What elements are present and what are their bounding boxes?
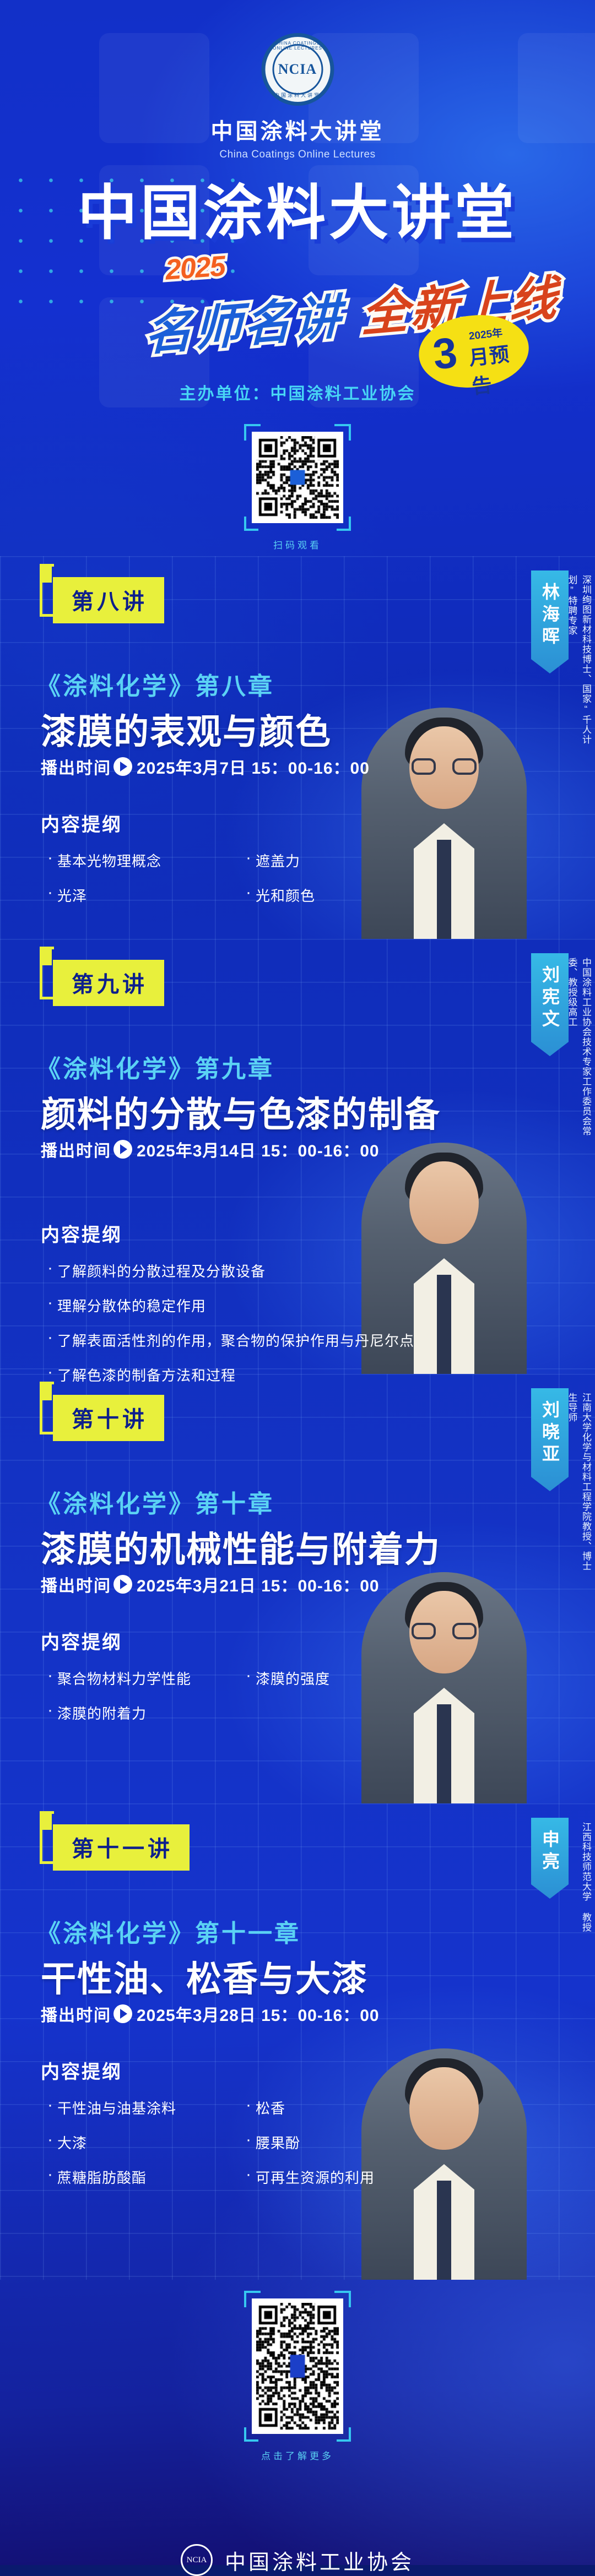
qr-code-watch[interactable] <box>252 432 343 523</box>
lecture-title: 颜料的分散与色漆的制备 <box>41 1086 441 1137</box>
speaker-name-tab: 刘宪文 <box>531 953 569 1056</box>
speaker-title: 深圳绚图新材科技博士、国家“千人计划”特聘专家 <box>567 575 593 757</box>
play-icon[interactable] <box>113 1575 132 1594</box>
outline-item: 了解表面活性剂的作用，聚合物的保护作用与丹尼尔点 <box>46 1330 542 1350</box>
qr-code-more[interactable] <box>252 2298 343 2434</box>
lecture-number-chip: 第十一讲 <box>53 1824 190 1871</box>
lecture-card[interactable]: 第十一讲 申亮 江西科技师范大学 教授 《涂料化学》第十一章 干性油、松香与大漆… <box>0 1803 595 2280</box>
outline-item: 可再生资源的利用 <box>245 2167 443 2187</box>
speaker-title: 江西科技师范大学 教授 <box>567 1822 593 2004</box>
lecture-card[interactable]: 第八讲 林海晖 深圳绚图新材科技博士、国家“千人计划”特聘专家 《涂料化学》第八… <box>0 556 595 939</box>
speaker-name: 刘晓亚 <box>537 1400 562 1466</box>
outline-heading: 内容提纲 <box>41 809 122 836</box>
lecture-chapter: 《涂料化学》第十一章 <box>36 1914 301 1949</box>
speaker-name-tab: 刘晓亚 <box>531 1388 569 1491</box>
outline-item: 腰果酚 <box>245 2132 443 2153</box>
airtime-label: 播出时间 <box>41 1137 111 1161</box>
poster-header: CHINA COATINGS ONLINE LECTURES NCIA 中国涂料… <box>0 0 595 556</box>
lecture-chapter: 《涂料化学》第八章 <box>36 666 274 702</box>
speaker-block: 申亮 江西科技师范大学 教授 <box>364 1803 595 2280</box>
lecture-chapter: 《涂料化学》第九章 <box>36 1049 274 1084</box>
speaker-title: 中国涂料工业协会技术专家工作委员会常委、教授级高工 <box>567 958 593 1139</box>
outline-heading: 内容提纲 <box>41 1220 122 1247</box>
seal-arc-bottom-text: 中国涂料大讲堂 <box>265 91 330 99</box>
outline-list: 干性油与油基涂料松香大漆腰果酚蔗糖脂肪酸酯可再生资源的利用 <box>46 2097 443 2202</box>
outline-item: 大漆 <box>46 2132 245 2153</box>
brand-name-en: China Coatings Online Lectures <box>211 149 385 161</box>
airtime-label: 播出时间 <box>41 754 111 779</box>
outline-item: 漆膜的强度 <box>245 1668 443 1688</box>
airtime-row: 播出时间 2025年3月28日 15：00-16：00 <box>41 2002 380 2026</box>
airtime-row: 播出时间 2025年3月7日 15：00-16：00 <box>41 754 370 779</box>
airtime-label: 播出时间 <box>41 2002 111 2026</box>
outline-item: 遮盖力 <box>245 850 443 871</box>
outline-item: 光泽 <box>46 885 245 905</box>
hero-year: 2025 <box>164 249 226 286</box>
ncia-seal-icon: CHINA COATINGS ONLINE LECTURES NCIA 中国涂料… <box>261 33 334 106</box>
footer-qr-block[interactable]: 点击了解更多 <box>244 2291 351 2462</box>
outline-heading: 内容提纲 <box>41 1627 122 1654</box>
outline-item: 理解分散体的稳定作用 <box>46 1295 542 1316</box>
airtime-row: 播出时间 2025年3月21日 15：00-16：00 <box>41 1572 380 1596</box>
hero-title: 中国涂料大讲堂 <box>0 165 595 251</box>
poster-footer: 点击了解更多 NCIA 中国涂料工业协会 <box>0 2280 595 2565</box>
outline-list: 聚合物材料力学性能漆膜的强度漆膜的附着力 <box>46 1668 443 1737</box>
speaker-name: 申亮 <box>537 1830 562 1874</box>
outline-item: 了解颜料的分散过程及分散设备 <box>46 1260 542 1281</box>
lecture-number-chip: 第九讲 <box>53 960 164 1006</box>
airtime-value: 2025年3月28日 15：00-16：00 <box>137 2002 380 2026</box>
airtime-row: 播出时间 2025年3月14日 15：00-16：00 <box>41 1137 380 1161</box>
speaker-name: 林海晖 <box>537 583 562 649</box>
outline-item: 聚合物材料力学性能 <box>46 1668 245 1688</box>
speaker-name-tab: 申亮 <box>531 1818 569 1899</box>
lecture-card[interactable]: 第十讲 刘晓亚 江南大学化学与材料工程学院教授、博士生导师 《涂料化学》第十章 … <box>0 1374 595 1803</box>
association-name: 中国涂料工业协会 <box>225 2545 414 2575</box>
glasses-icon <box>412 1623 477 1639</box>
speaker-name: 刘宪文 <box>537 965 562 1031</box>
play-icon[interactable] <box>113 2004 132 2023</box>
ncia-mark-icon: NCIA <box>181 2544 213 2576</box>
speaker-name-tab: 林海晖 <box>531 570 569 673</box>
outline-item: 漆膜的附着力 <box>46 1703 245 1723</box>
association-block: NCIA 中国涂料工业协会 <box>0 2544 595 2576</box>
qr-scan-frame <box>244 424 351 531</box>
qr-caption-more[interactable]: 点击了解更多 <box>244 2448 351 2462</box>
qr-scan-frame-footer <box>244 2291 351 2442</box>
header-qr-block[interactable]: 扫码观看 <box>244 424 351 551</box>
brand-logo-block: CHINA COATINGS ONLINE LECTURES NCIA 中国涂料… <box>211 33 385 161</box>
outline-item: 蔗糖脂肪酸酯 <box>46 2167 245 2187</box>
outline-heading: 内容提纲 <box>41 2057 122 2084</box>
airtime-value: 2025年3月21日 15：00-16：00 <box>137 1572 380 1596</box>
seal-center-text: NCIA <box>278 61 317 78</box>
lecture-number-chip: 第十讲 <box>53 1395 164 1441</box>
play-icon[interactable] <box>113 757 132 776</box>
lecture-title: 漆膜的机械性能与附着力 <box>41 1521 441 1572</box>
brand-name-cn: 中国涂料大讲堂 <box>211 113 385 145</box>
lecture-title: 干性油、松香与大漆 <box>41 1951 368 2002</box>
speaker-block: 刘晓亚 江南大学化学与材料工程学院教授、博士生导师 <box>364 1374 595 1803</box>
lecture-title: 漆膜的表观与颜色 <box>41 704 332 754</box>
speaker-title: 江南大学化学与材料工程学院教授、博士生导师 <box>567 1393 593 1574</box>
airtime-value: 2025年3月7日 15：00-16：00 <box>137 754 370 779</box>
hero-kv-left: 名师名讲 <box>144 290 343 361</box>
outline-item: 光和颜色 <box>245 885 443 905</box>
airtime-label: 播出时间 <box>41 1572 111 1596</box>
lecture-card[interactable]: 第九讲 刘宪文 中国涂料工业协会技术专家工作委员会常委、教授级高工 《涂料化学》… <box>0 939 595 1374</box>
outline-list: 基本光物理概念遮盖力光泽光和颜色 <box>46 850 443 920</box>
lecture-chapter: 《涂料化学》第十章 <box>36 1484 274 1519</box>
glasses-icon <box>412 758 477 775</box>
organizer-line: 主办单位：中国涂料工业协会 <box>0 380 595 404</box>
outline-item: 基本光物理概念 <box>46 850 245 871</box>
airtime-value: 2025年3月14日 15：00-16：00 <box>137 1137 380 1161</box>
badge-month-number: 3 <box>431 330 459 376</box>
outline-item: 干性油与油基涂料 <box>46 2097 245 2118</box>
play-icon[interactable] <box>113 1140 132 1159</box>
outline-item: 松香 <box>245 2097 443 2118</box>
hero-keyvisual: 2025 名师名讲全新上线 3 2025年 月预告 <box>0 251 595 377</box>
qr-caption-watch: 扫码观看 <box>244 537 351 551</box>
lecture-number-chip: 第八讲 <box>53 577 164 623</box>
